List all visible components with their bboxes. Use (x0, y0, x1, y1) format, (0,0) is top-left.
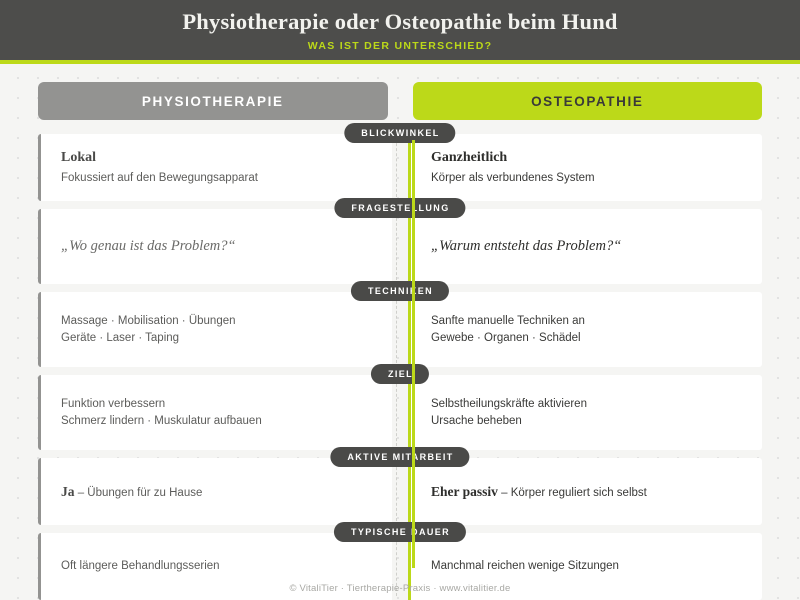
row-divider-dashed (396, 138, 397, 197)
row-right-inline-rest: – Körper reguliert sich selbst (498, 487, 647, 499)
row-divider-dashed (396, 462, 397, 521)
row-right-quote: „Warum entsteht das Problem?“ (431, 237, 748, 256)
row-card-left: Massage · Mobilisation · Übungen Geräte … (38, 292, 392, 367)
row-left-line1: Oft längere Behandlungsserien (61, 558, 378, 574)
row-card-right: Sanfte manuelle Techniken an Gewebe · Or… (408, 292, 762, 367)
comparison-row: TECHNIKEN Massage · Mobilisation · Übung… (0, 292, 800, 367)
row-badge: TECHNIKEN (351, 281, 449, 301)
page-footer: © VitaliTier · Tiertherapie-Praxis · www… (0, 583, 800, 594)
row-right-line2: Gewebe · Organen · Schädel (431, 330, 748, 346)
column-header-physiotherapie: PHYSIOTHERAPIE (38, 82, 388, 120)
column-header-osteopathie: OSTEOPATHIE (413, 82, 763, 120)
row-badge: BLICKWINKEL (344, 123, 455, 143)
row-divider-dashed (396, 213, 397, 280)
row-badge: TYPISCHE DAUER (334, 522, 466, 542)
column-header-physiotherapie-label: PHYSIOTHERAPIE (142, 94, 284, 109)
page-subtitle: WAS IST DER UNTERSCHIED? (308, 40, 493, 52)
comparison-row: AKTIVE MITARBEIT Ja – Übungen für zu Hau… (0, 458, 800, 525)
row-left-lead: Lokal (61, 149, 378, 167)
row-card-right: Eher passiv – Körper reguliert sich selb… (408, 458, 762, 525)
row-right-line1: Selbstheilungskräfte aktivieren (431, 396, 748, 412)
row-left-line2: Geräte · Laser · Taping (61, 330, 378, 346)
row-left-inline-lead: Ja (61, 484, 75, 499)
comparison-row: FRAGESTELLUNG „Wo genau ist das Problem?… (0, 209, 800, 284)
row-right-line2: Ursache beheben (431, 413, 748, 429)
row-divider-dashed (396, 379, 397, 446)
column-header-osteopathie-label: OSTEOPATHIE (531, 94, 643, 109)
row-divider-dashed (396, 296, 397, 363)
row-card-left: „Wo genau ist das Problem?“ (38, 209, 392, 284)
row-card-right: Ganzheitlich Körper als verbundenes Syst… (408, 134, 762, 201)
row-card-left: Funktion verbessern Schmerz lindern · Mu… (38, 375, 392, 450)
row-right-line1: Manchmal reichen wenige Sitzungen (431, 558, 748, 574)
row-badge: AKTIVE MITARBEIT (330, 447, 469, 467)
row-badge: ZIEL (371, 364, 429, 384)
row-left-line1: Massage · Mobilisation · Übungen (61, 313, 378, 329)
row-left-inline-rest: – Übungen für zu Hause (75, 487, 203, 499)
row-card-left: Lokal Fokussiert auf den Bewegungsappara… (38, 134, 392, 201)
row-card-right: „Warum entsteht das Problem?“ (408, 209, 762, 284)
comparison-rows: BLICKWINKEL Lokal Fokussiert auf den Bew… (0, 134, 800, 600)
row-right-line1: Körper als verbundenes System (431, 170, 748, 186)
row-badge: FRAGESTELLUNG (334, 198, 465, 218)
column-headers: PHYSIOTHERAPIE OSTEOPATHIE (0, 64, 800, 120)
row-left-line2: Schmerz lindern · Muskulatur aufbauen (61, 413, 378, 429)
row-right-lead: Ganzheitlich (431, 149, 748, 167)
comparison-row: BLICKWINKEL Lokal Fokussiert auf den Bew… (0, 134, 800, 201)
row-card-left: Ja – Übungen für zu Hause (38, 458, 392, 525)
row-left-line1: Fokussiert auf den Bewegungsapparat (61, 170, 378, 186)
row-left-quote: „Wo genau ist das Problem?“ (61, 237, 378, 256)
page-title: Physiotherapie oder Osteopathie beim Hun… (182, 10, 617, 35)
page-header: Physiotherapie oder Osteopathie beim Hun… (0, 0, 800, 64)
comparison-row: ZIEL Funktion verbessern Schmerz lindern… (0, 375, 800, 450)
row-right-line1: Sanfte manuelle Techniken an (431, 313, 748, 329)
row-left-line1: Funktion verbessern (61, 396, 378, 412)
row-card-right: Selbstheilungskräfte aktivieren Ursache … (408, 375, 762, 450)
row-right-inline-lead: Eher passiv (431, 484, 498, 499)
